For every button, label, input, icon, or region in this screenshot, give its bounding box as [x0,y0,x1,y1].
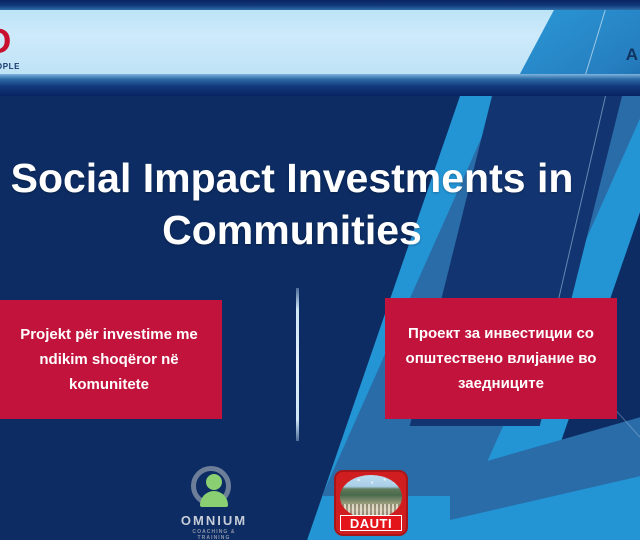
dauti-landscape-image [340,475,402,519]
header-bottom-rule [0,74,640,96]
dauti-sky-detail [340,477,402,489]
header-top-rule [0,0,640,10]
subtitle-text-macedonian: Проект за инвестиции со општествено влиј… [395,321,607,396]
dauti-name-banner: DAUTI [340,515,402,531]
dauti-logo-name: DAUTI [350,517,392,530]
subtitle-box-albanian: Projekt për investime me ndikim shoqëror… [0,300,222,419]
dauti-town-detail [340,504,402,515]
omnium-logo: OMNIUM COACHING & TRAINING [176,466,252,540]
brand-logo-subtitle: PEOPLE [0,62,20,71]
background-diagonal-azure-bottom [450,460,640,540]
omnium-logo-tagline: COACHING & TRAINING [176,529,252,540]
background-diagonal-steel-bottom [450,400,640,540]
vertical-divider [296,288,299,441]
presentation-slide: D PEOPLE A Social Impact Investments in … [0,0,640,540]
dauti-logo: DAUTI [334,470,408,536]
omnium-logo-name: OMNIUM [176,513,252,528]
omnium-person-icon [191,466,237,512]
subtitle-box-macedonian: Проект за инвестиции со општествено влиј… [385,298,617,419]
slide-header: D PEOPLE A [0,0,640,96]
omnium-head-shape [206,474,222,490]
brand-logo-letter: D [0,24,10,60]
brand-logo: D PEOPLE [0,24,78,74]
header-right-glyph: A [626,46,638,63]
subtitle-text-albanian: Projekt për investime me ndikim shoqëror… [0,322,212,397]
page-title: Social Impact Investments in Communities [0,152,602,256]
